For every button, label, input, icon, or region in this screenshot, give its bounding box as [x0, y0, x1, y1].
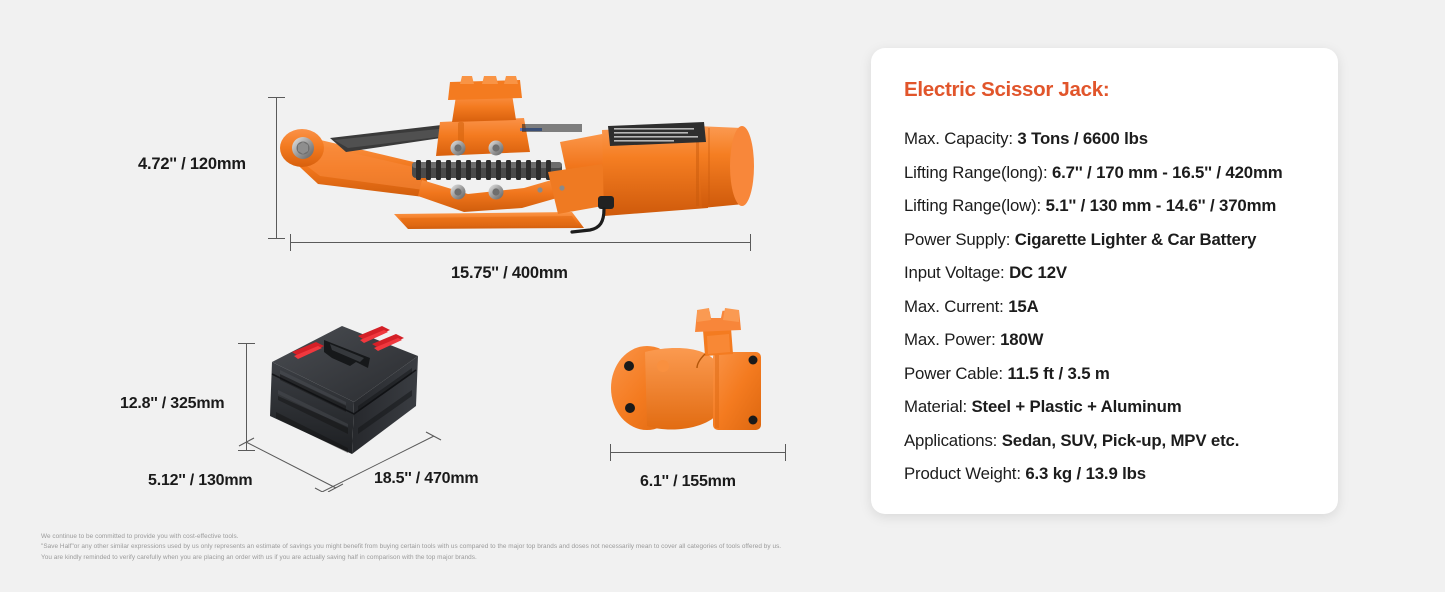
case-width-dimension-label: 18.5'' / 470mm [374, 470, 478, 488]
jack-height-dimension-line [276, 97, 277, 239]
spec-value: DC 12V [1009, 263, 1067, 282]
spec-value: Steel + Plastic + Aluminum [972, 397, 1182, 416]
spec-key: Lifting Range(long): [904, 163, 1052, 182]
spec-row-applications: Applications: Sedan, SUV, Pick-up, MPV e… [904, 424, 1338, 458]
spec-value: 3 Tons / 6600 lbs [1017, 129, 1148, 148]
spec-row-max-capacity: Max. Capacity: 3 Tons / 6600 lbs [904, 122, 1338, 156]
spec-key: Input Voltage: [904, 263, 1009, 282]
spec-key: Max. Current: [904, 297, 1008, 316]
fineprint-line-2: "Save Half"or any other similar expressi… [41, 542, 781, 552]
case-depth-dimension-label: 5.12'' / 130mm [148, 472, 252, 490]
spec-value: Cigarette Lighter & Car Battery [1015, 230, 1257, 249]
spec-row-power-supply: Power Supply: Cigarette Lighter & Car Ba… [904, 223, 1338, 257]
spec-key: Power Cable: [904, 364, 1007, 383]
spec-key: Power Supply: [904, 230, 1015, 249]
spec-value: 15A [1008, 297, 1038, 316]
fineprint-line-3: You are kindly reminded to verify carefu… [41, 553, 781, 563]
spec-row-max-current: Max. Current: 15A [904, 290, 1338, 324]
spec-value: 6.3 kg / 13.9 lbs [1025, 464, 1146, 483]
spec-value: 6.7'' / 170 mm - 16.5'' / 420mm [1052, 163, 1283, 182]
scissor-jack-side-view-image [272, 76, 760, 242]
scissor-jack-front-view-image [605, 308, 791, 440]
jack-front-width-dimension-label: 6.1'' / 155mm [640, 473, 736, 491]
spec-row-product-weight: Product Weight: 6.3 kg / 13.9 lbs [904, 457, 1338, 491]
case-height-dimension-label: 12.8'' / 325mm [120, 395, 224, 413]
spec-key: Lifting Range(low): [904, 196, 1046, 215]
spec-key: Product Weight: [904, 464, 1025, 483]
spec-list: Max. Capacity: 3 Tons / 6600 lbs Lifting… [904, 122, 1338, 491]
spec-value: 5.1'' / 130 mm - 14.6'' / 370mm [1046, 196, 1277, 215]
spec-row-lifting-range-low: Lifting Range(low): 5.1'' / 130 mm - 14.… [904, 189, 1338, 223]
spec-row-power-cable: Power Cable: 11.5 ft / 3.5 m [904, 357, 1338, 391]
spec-value: 180W [1000, 330, 1043, 349]
jack-length-dimension-label: 15.75'' / 400mm [451, 264, 568, 283]
spec-key: Max. Capacity: [904, 129, 1017, 148]
spec-row-lifting-range-long: Lifting Range(long): 6.7'' / 170 mm - 16… [904, 156, 1338, 190]
jack-height-dimension-label: 4.72'' / 120mm [138, 155, 246, 174]
spec-card-title: Electric Scissor Jack: [904, 78, 1338, 102]
jack-front-width-dimension-line [610, 452, 786, 453]
spec-row-max-power: Max. Power: 180W [904, 323, 1338, 357]
spec-key: Max. Power: [904, 330, 1000, 349]
fineprint-line-1: We continue to be committed to provide y… [41, 532, 781, 542]
product-spec-page: 4.72'' / 120mm 15.75'' / 400mm [0, 0, 1445, 592]
fineprint-disclaimer: We continue to be committed to provide y… [41, 532, 781, 563]
jack-length-dimension-line [290, 242, 751, 243]
spec-key: Applications: [904, 431, 1002, 450]
spec-card: Electric Scissor Jack: Max. Capacity: 3 … [871, 48, 1338, 514]
spec-value: 11.5 ft / 3.5 m [1007, 364, 1109, 383]
product-diagram-area: 4.72'' / 120mm 15.75'' / 400mm [0, 0, 860, 592]
spec-row-input-voltage: Input Voltage: DC 12V [904, 256, 1338, 290]
spec-row-material: Material: Steel + Plastic + Aluminum [904, 390, 1338, 424]
spec-value: Sedan, SUV, Pick-up, MPV etc. [1002, 431, 1240, 450]
spec-key: Material: [904, 397, 972, 416]
